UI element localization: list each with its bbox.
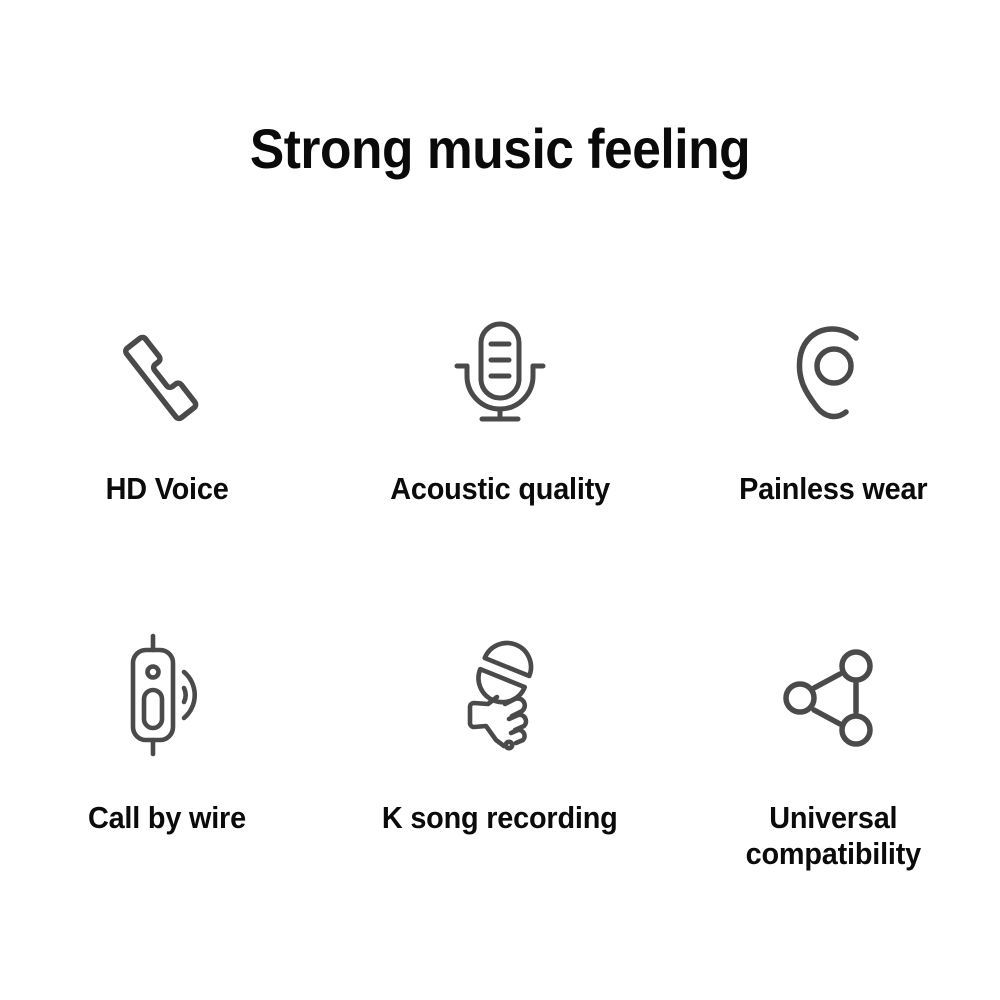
hand-microphone-icon: [437, 620, 563, 770]
feature-label: Painless wear: [739, 471, 927, 507]
feature-label: HD Voice: [105, 471, 228, 507]
feature-item-call-by-wire[interactable]: Call by wire: [0, 620, 333, 940]
inline-remote-icon: [108, 620, 226, 770]
feature-label: Universal compatibility: [746, 800, 921, 872]
feature-label: Acoustic quality: [390, 471, 610, 507]
share-network-icon: [774, 620, 892, 770]
feature-item-acoustic-quality[interactable]: Acoustic quality: [333, 300, 666, 620]
feature-grid: HD Voice Acoustic quality: [0, 300, 1000, 940]
feature-banner: Strong music feeling HD Voice: [0, 0, 1000, 1000]
feature-item-hd-voice[interactable]: HD Voice: [0, 300, 333, 620]
feature-item-painless-wear[interactable]: Painless wear: [667, 300, 1000, 620]
feature-label: Call by wire: [88, 800, 246, 836]
feature-item-k-song-recording[interactable]: K song recording: [333, 620, 666, 940]
ear-icon: [774, 300, 892, 445]
phone-handset-icon: [107, 300, 227, 445]
feature-label: K song recording: [382, 800, 618, 836]
feature-item-universal-compatibility[interactable]: Universal compatibility: [667, 620, 1000, 940]
page-title: Strong music feeling: [40, 118, 960, 180]
microphone-icon: [441, 300, 559, 445]
